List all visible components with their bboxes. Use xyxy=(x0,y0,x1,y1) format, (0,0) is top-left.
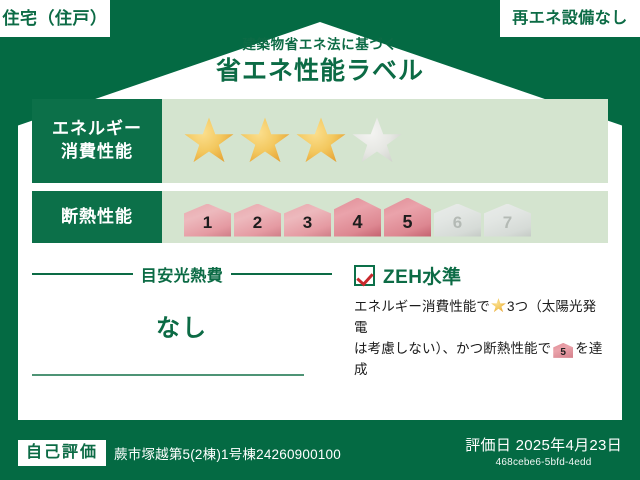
rating-rows: エネルギー 消費性能 断熱性能 1 2 3 4 5 6 7 xyxy=(32,99,608,251)
utility-cost-value: なし xyxy=(32,308,332,343)
insulation-level-7: 7 xyxy=(484,204,531,237)
star-2-filled xyxy=(240,117,290,165)
zeh-checkbox-checked-icon xyxy=(354,265,375,286)
star-4-empty xyxy=(352,117,402,165)
energy-performance-body xyxy=(162,99,608,183)
energy-label-line2: 消費性能 xyxy=(61,141,133,164)
lower-section: 目安光熱費 なし ZEH水準 エネルギー消費性能で3つ（太陽光発電 は考慮しない… xyxy=(32,262,608,382)
insulation-level-5: 5 xyxy=(384,198,431,237)
insulation-level-4: 4 xyxy=(334,198,381,237)
star-1-filled xyxy=(184,117,234,165)
utility-cost-block: 目安光熱費 なし xyxy=(32,262,332,382)
self-evaluation-badge: 自己評価 xyxy=(18,440,106,466)
insulation-label-line1: 断熱性能 xyxy=(61,206,133,229)
utility-cost-heading: 目安光熱費 xyxy=(32,262,332,286)
zeh-title-row: ZEH水準 xyxy=(354,262,608,289)
insulation-performance-label: 断熱性能 xyxy=(32,191,162,243)
insulation-performance-row: 断熱性能 1 2 3 4 5 6 7 xyxy=(32,191,608,243)
zeh-description: エネルギー消費性能で3つ（太陽光発電 は考慮しない）、かつ断熱性能で5を達成 xyxy=(354,297,608,381)
insulation-scale: 1 2 3 4 5 6 7 xyxy=(184,198,531,237)
utility-cost-underline xyxy=(32,374,304,376)
heading-rule-right xyxy=(231,273,332,275)
footer-left: 自己評価 蕨市塚越第5(2棟)1号棟24260900100 xyxy=(18,440,341,466)
inline-house-icon: 5 xyxy=(553,343,573,358)
star-3-filled xyxy=(296,117,346,165)
inline-star-icon xyxy=(491,298,506,313)
insulation-level-2: 2 xyxy=(234,204,281,237)
renewable-energy-tag: 再エネ設備なし xyxy=(500,0,640,37)
zeh-block: ZEH水準 エネルギー消費性能で3つ（太陽光発電 は考慮しない）、かつ断熱性能で… xyxy=(332,262,608,382)
zeh-label: ZEH水準 xyxy=(383,262,462,289)
footer-right: 評価日 2025年4月23日 468cebe6-5bfd-4edd xyxy=(465,434,622,468)
insulation-performance-body: 1 2 3 4 5 6 7 xyxy=(162,191,608,243)
insulation-level-3: 3 xyxy=(284,204,331,237)
zeh-desc-part2: は考慮しない）、かつ断熱性能で xyxy=(354,341,551,356)
energy-label-line1: エネルギー xyxy=(52,118,142,141)
zeh-desc-part1: エネルギー消費性能で xyxy=(354,299,490,314)
energy-performance-row: エネルギー 消費性能 xyxy=(32,99,608,183)
evaluation-date: 評価日 2025年4月23日 xyxy=(465,434,622,455)
energy-performance-label: エネルギー 消費性能 xyxy=(32,99,162,183)
housing-type-label: 住宅（住戸） xyxy=(3,10,108,27)
heading-rule-left xyxy=(32,273,133,275)
evaluation-id: 468cebe6-5bfd-4edd xyxy=(465,457,622,468)
utility-cost-title: 目安光熱費 xyxy=(133,262,232,286)
insulation-level-1: 1 xyxy=(184,204,231,237)
renewable-energy-label: 再エネ設備なし xyxy=(512,11,628,27)
property-name: 蕨市塚越第5(2棟)1号棟24260900100 xyxy=(114,443,341,463)
insulation-level-6: 6 xyxy=(434,204,481,237)
housing-type-tag: 住宅（住戸） xyxy=(0,0,110,37)
star-rating xyxy=(184,117,402,165)
